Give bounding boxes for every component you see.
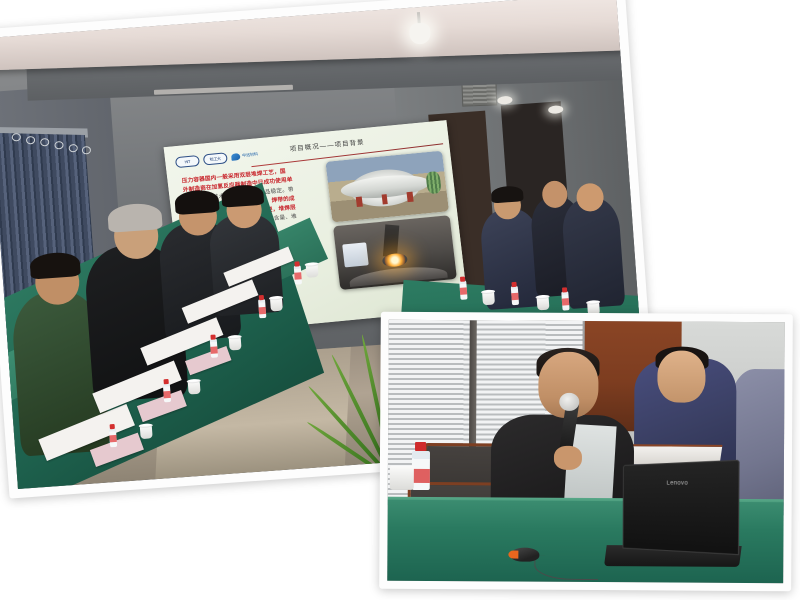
weld-torch (383, 224, 399, 257)
teacup (536, 297, 549, 311)
collage-canvas: HIT 哈工大 中远材料 项目概况——项目背景 压力容器国内一般采用双层堆焊工艺… (0, 0, 800, 600)
logo-company-label: 中远材料 (242, 151, 259, 158)
water-bottle (162, 383, 170, 402)
vessel-support (406, 191, 413, 201)
slide-image-weld-arc (333, 215, 457, 290)
teacup (270, 298, 283, 312)
photo-speaker-closeup[interactable]: Lenovo (379, 312, 793, 592)
water-bottle (412, 450, 430, 489)
vessel-support (381, 194, 388, 204)
laptop-screen[interactable] (622, 460, 739, 555)
logo-hit: HIT (175, 154, 200, 167)
person-behind-head (658, 350, 706, 402)
photo2-image-area: Lenovo (387, 320, 785, 583)
attendee-hair (221, 184, 264, 208)
teacup (140, 425, 153, 439)
water-bottle (561, 291, 569, 310)
blind-hook-icon (26, 136, 35, 144)
swoosh-icon (231, 152, 241, 160)
teacup (390, 466, 414, 490)
water-bottle (459, 280, 467, 299)
logo-company: 中远材料 (230, 148, 271, 161)
water-bottle (258, 299, 266, 318)
weld-equipment-label (342, 242, 368, 267)
teacup (306, 264, 319, 278)
vessel-support (355, 196, 362, 206)
logo-university: 哈工大 (202, 152, 227, 165)
water-bottle (510, 286, 518, 305)
teacup (229, 337, 242, 351)
teacup (482, 292, 495, 306)
computer-mouse[interactable] (510, 548, 540, 563)
speaker-hand-mic (554, 446, 582, 470)
blind-hook-icon (68, 144, 77, 152)
blind-hook-icon (54, 141, 63, 149)
water-bottle (293, 265, 301, 284)
teacup (188, 381, 201, 395)
attendee-hair (491, 186, 524, 204)
vessel-coil (425, 170, 441, 193)
attendee-right (561, 197, 625, 309)
slide-image-pressure-vessel (325, 151, 448, 222)
water-bottle (109, 428, 117, 447)
